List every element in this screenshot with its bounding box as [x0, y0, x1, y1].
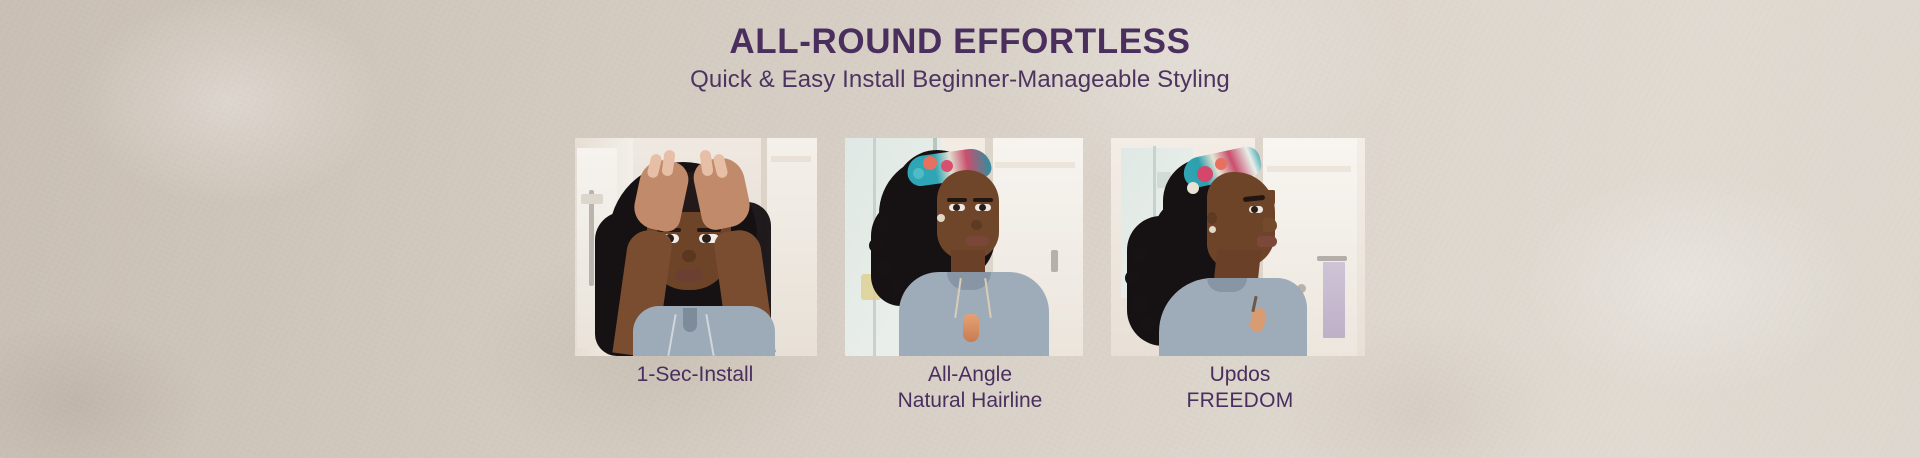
banner-headline: ALL-ROUND EFFORTLESS: [0, 24, 1920, 59]
banner-subheadline: Quick & Easy Install Beginner-Manageable…: [0, 66, 1920, 94]
feature-caption-3-line-1: Updos: [1090, 362, 1390, 388]
feature-caption-2-line-1: All-Angle: [820, 362, 1120, 388]
promo-banner: ALL-ROUND EFFORTLESS Quick & Easy Instal…: [0, 0, 1920, 458]
feature-caption-1: 1-Sec-Install: [545, 362, 845, 388]
feature-caption-3: Updos FREEDOM: [1090, 362, 1390, 414]
woman-installing-headband-wig-photo: [575, 138, 817, 356]
feature-caption-2: All-Angle Natural Hairline: [820, 362, 1120, 414]
banner-content: ALL-ROUND EFFORTLESS Quick & Easy Instal…: [0, 0, 1920, 458]
feature-caption-2-line-2: Natural Hairline: [820, 388, 1120, 414]
feature-caption-1-line-1: 1-Sec-Install: [545, 362, 845, 388]
feature-photo-3: [1111, 138, 1365, 356]
woman-side-profile-updo-photo: [1111, 138, 1365, 356]
feature-photo-2: [845, 138, 1083, 356]
feature-captions: 1-Sec-Install All-Angle Natural Hairline…: [575, 362, 1365, 432]
feature-photo-1: [575, 138, 817, 356]
feature-caption-3-line-2: FREEDOM: [1090, 388, 1390, 414]
woman-three-quarter-view-photo: [845, 138, 1083, 356]
feature-photo-row: [575, 138, 1365, 356]
